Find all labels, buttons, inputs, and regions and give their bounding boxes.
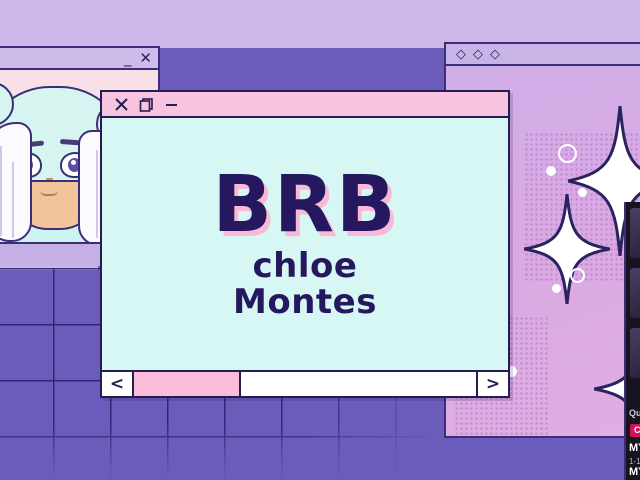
close-icon[interactable]: [114, 97, 129, 112]
thumbnail[interactable]: [630, 208, 640, 258]
photo-window-titlebar[interactable]: _ ✕: [0, 48, 158, 70]
subtitle-line-1: chloe: [253, 246, 358, 286]
horizontal-scrollbar[interactable]: < >: [102, 370, 508, 396]
panel-label: MY: [629, 466, 640, 478]
thumbnail[interactable]: [630, 328, 640, 378]
diamond-icon: ◇: [490, 48, 500, 61]
screen: ◇ ◇ ◇: [0, 0, 640, 480]
diamond-icon: ◇: [456, 48, 466, 61]
minimize-icon[interactable]: [164, 97, 179, 112]
video-sidebar-panel[interactable]: Qu Ca MY 1-10 MY: [624, 202, 640, 480]
bubble: [558, 144, 577, 163]
subtitle: chloe Montes: [233, 248, 377, 320]
sparkle-window-titlebar[interactable]: ◇ ◇ ◇: [446, 44, 640, 66]
scroll-left-button[interactable]: <: [102, 372, 134, 396]
panel-label: 1-10: [629, 457, 640, 466]
diamond-icon: ◇: [473, 48, 483, 61]
brb-window-body: BRB chloe Montes: [102, 118, 508, 370]
status-badge: Ca: [630, 424, 640, 437]
minimize-icon[interactable]: _: [124, 51, 132, 66]
close-icon[interactable]: ✕: [139, 51, 152, 66]
panel-label: Qu: [629, 408, 640, 418]
bubble: [578, 188, 587, 197]
restore-window-icon[interactable]: [139, 97, 154, 112]
four-point-star: [524, 194, 610, 304]
brb-window[interactable]: BRB chloe Montes < >: [100, 90, 510, 398]
subtitle-line-2: Montes: [233, 284, 377, 320]
scroll-right-button[interactable]: >: [476, 372, 508, 396]
brb-window-titlebar[interactable]: [102, 92, 508, 118]
hair-front-left: [0, 122, 32, 242]
bubble: [570, 268, 585, 283]
panel-label: MY: [629, 442, 640, 454]
nose: [46, 178, 53, 180]
page-title: BRB: [213, 168, 398, 243]
thumbnail[interactable]: [630, 268, 640, 318]
bubble: [546, 166, 556, 176]
scrollbar-track[interactable]: [134, 372, 476, 396]
scrollbar-thumb[interactable]: [134, 372, 241, 396]
bubble: [552, 284, 561, 293]
